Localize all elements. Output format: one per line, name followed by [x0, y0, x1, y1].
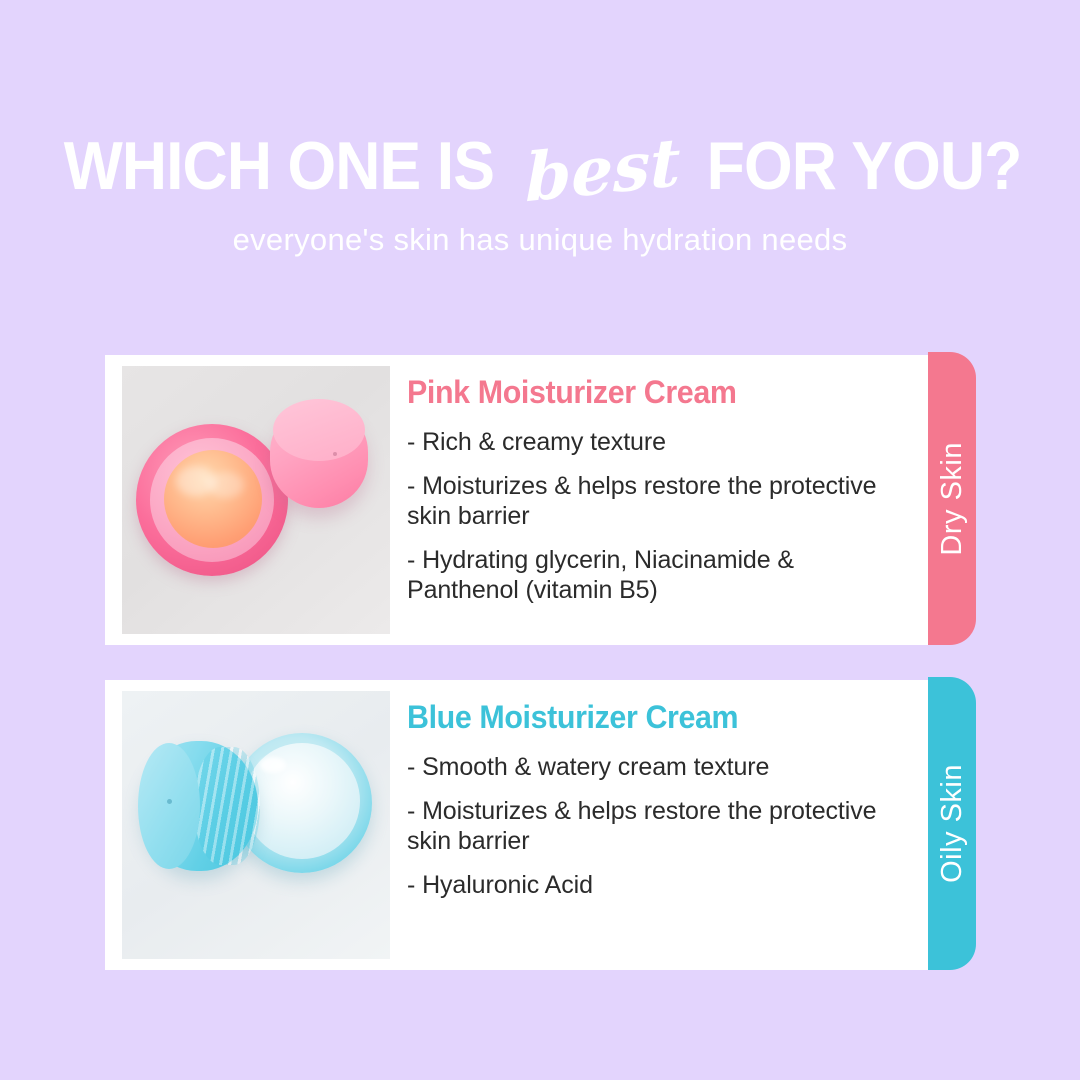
product-details-blue: Blue Moisturizer Cream - Smooth & watery… — [390, 680, 931, 914]
gel-content-icon — [244, 743, 360, 859]
product-bullet: - Moisturizes & helps restore the protec… — [407, 796, 887, 856]
product-bullet: - Moisturizes & helps restore the protec… — [407, 471, 887, 531]
skin-type-tab-oily[interactable]: Oily Skin — [928, 677, 976, 970]
product-bullet: - Rich & creamy texture — [407, 427, 887, 457]
title-text-after: FOR YOU? — [706, 128, 1021, 204]
jar-lid-dot-icon — [333, 452, 337, 456]
cream-content-icon — [164, 450, 262, 548]
jar-lid-dot-icon — [167, 799, 172, 804]
title-script-word: best — [513, 122, 692, 217]
product-details-pink: Pink Moisturizer Cream - Rich & creamy t… — [390, 355, 931, 619]
skin-type-tab-label: Oily Skin — [936, 764, 969, 883]
product-card-pink[interactable]: Pink Moisturizer Cream - Rich & creamy t… — [105, 355, 931, 645]
product-title-pink: Pink Moisturizer Cream — [407, 373, 863, 411]
product-bullet: - Hydrating glycerin, Niacinamide & Pant… — [407, 545, 887, 605]
jar-lid-face-icon — [138, 743, 200, 869]
jar-lid-ribs-icon — [194, 747, 260, 865]
product-photo-blue — [122, 691, 390, 959]
product-photo-pink — [122, 366, 390, 634]
skin-type-tab-dry[interactable]: Dry Skin — [928, 352, 976, 645]
product-card-blue[interactable]: Blue Moisturizer Cream - Smooth & watery… — [105, 680, 931, 970]
page-header: WHICH ONE IS best FOR YOU? everyone's sk… — [0, 128, 1080, 258]
skin-type-tab-label: Dry Skin — [936, 442, 969, 556]
product-title-blue: Blue Moisturizer Cream — [407, 698, 863, 736]
product-bullet: - Hyaluronic Acid — [407, 870, 887, 900]
page-title: WHICH ONE IS best FOR YOU? — [0, 128, 1080, 204]
page-subtitle: everyone's skin has unique hydration nee… — [0, 222, 1080, 258]
title-text-before: WHICH ONE IS — [64, 128, 494, 204]
product-bullet: - Smooth & watery cream texture — [407, 752, 887, 782]
jar-lid-top-icon — [273, 399, 365, 461]
